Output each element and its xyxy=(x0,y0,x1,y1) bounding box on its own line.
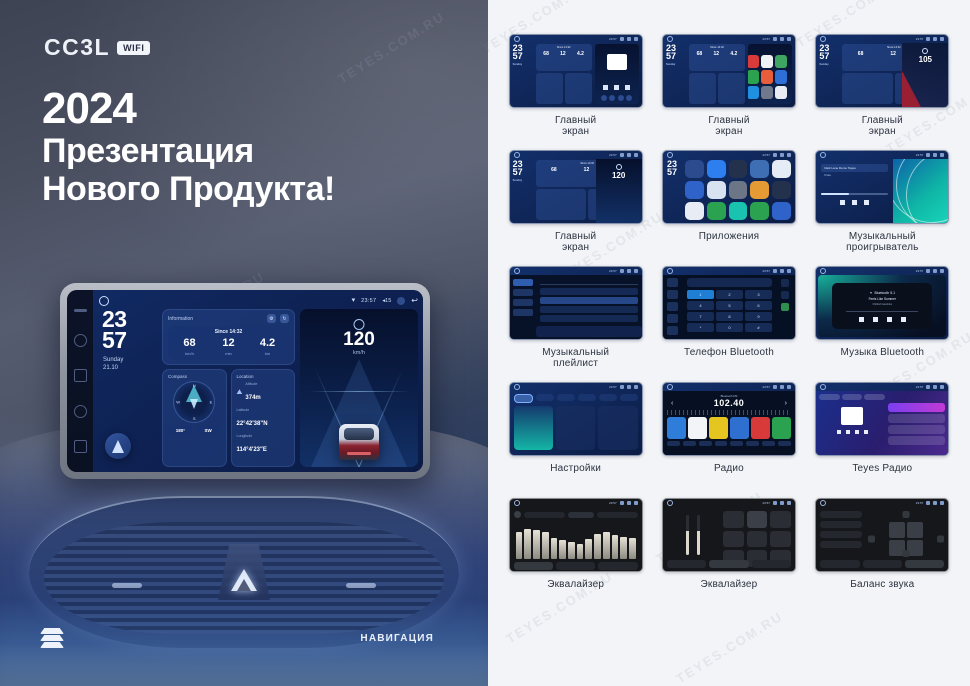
stop-icon xyxy=(614,85,619,90)
gallery-tile[interactable]: 23:57 2357Sunday Since 14:32 68124.2 120 xyxy=(504,150,647,263)
navigation-arrow-icon[interactable] xyxy=(105,433,131,459)
widgets-column: Information ⚙ ↻ Since 14:32 xyxy=(162,309,295,467)
key-6: 6 xyxy=(745,301,772,310)
clock-widget: 2357Sunday xyxy=(513,44,533,104)
settings-cards[interactable] xyxy=(514,406,638,450)
settings-screen xyxy=(510,391,642,455)
playlist-sidebar[interactable] xyxy=(510,275,536,339)
compass-west-label: W xyxy=(176,400,180,405)
gallery-tile[interactable]: 23:57 2357Sunday Since 14:32 68124.2 xyxy=(657,34,800,147)
gallery-tile[interactable]: 23:57 ⚭ Bluetooth 5.1 Feels Like Summer … xyxy=(811,266,954,379)
compass-dial: N E S W xyxy=(173,381,215,423)
tab-tone xyxy=(905,560,944,568)
location-widget[interactable]: Location ⛰ Altitude 374m xyxy=(231,369,296,467)
compass-widget xyxy=(536,73,563,104)
preset-knob-icon xyxy=(514,511,521,518)
volume-down-icon[interactable] xyxy=(74,405,87,418)
app-icon xyxy=(707,181,726,199)
speed-unit: km/h xyxy=(300,350,418,356)
volume-up-icon[interactable] xyxy=(74,334,87,347)
tab-eq xyxy=(514,562,553,570)
screenshot-thumbnail[interactable]: 23:57 xyxy=(815,498,949,572)
radio-frequency: 102.40 xyxy=(714,398,745,408)
hero-panel: TEYES.COM.RU TEYES.COM.RU TEYES.COM.RU xyxy=(0,0,488,686)
compass-widget xyxy=(536,189,587,220)
arrow-left-icon[interactable] xyxy=(868,536,875,543)
app-icon xyxy=(772,202,791,220)
media-widget xyxy=(595,44,639,104)
play-pause-icon xyxy=(873,317,878,322)
settings-gear-icon[interactable]: ⚙ xyxy=(267,314,276,323)
gallery-tile[interactable]: 23:57 Bluetooth FM ‹ 102.40 › xyxy=(657,382,800,495)
track-title: Dark Lane Demo Tapes xyxy=(821,164,888,172)
back-icon[interactable]: ↩ xyxy=(411,297,418,305)
caption-line-1: Главный xyxy=(555,231,596,242)
home-screen: ▾ 23:57 ◂15 ↩ 23 57 Sunday 21.10 xyxy=(93,290,423,472)
player-controls[interactable] xyxy=(819,430,885,434)
information-widget: Since 14:32 68124.2 xyxy=(689,44,745,71)
tab-factory xyxy=(578,394,596,401)
dialer-actions[interactable] xyxy=(776,275,795,339)
location-title: Location xyxy=(237,374,290,379)
app-icon xyxy=(707,160,726,178)
mini-status-bar: 23:57 xyxy=(510,267,642,275)
tile-caption: Эквалайзер xyxy=(701,580,758,591)
preset-button xyxy=(747,531,768,548)
compass-widget xyxy=(689,73,716,104)
caption-line-2: проигрыватель xyxy=(846,242,918,253)
headline-block: 2024 Презентация Нового Продукта! xyxy=(42,86,335,208)
watermark: TEYES.COM.RU xyxy=(673,609,785,686)
speed-value: 120 xyxy=(596,171,642,180)
location-widget xyxy=(718,73,745,104)
tab-bar[interactable] xyxy=(819,394,885,400)
latitude-label: Latitude xyxy=(237,408,290,412)
key-2: 2 xyxy=(716,290,743,299)
wifi-icon: ▾ xyxy=(352,297,356,304)
home-layout: 2357Sunday Since 14:32 68124.2 xyxy=(510,35,642,107)
headline-line-2: Нового Продукта! xyxy=(42,170,335,208)
balance-presets[interactable] xyxy=(820,511,862,567)
equalizer-tabs[interactable] xyxy=(820,560,944,568)
driving-view-widget: 105 xyxy=(902,43,948,107)
prev-station-icon[interactable]: ‹ xyxy=(671,400,673,407)
preset-buttons[interactable] xyxy=(723,511,791,567)
compass-readout: 180° SW xyxy=(168,426,221,435)
caption-line-1: Эквалайзер xyxy=(701,579,758,590)
clock-weekday: Sunday xyxy=(99,356,157,364)
trip-stat-unit: min xyxy=(209,351,248,356)
dialer: 123 456 789 *0# xyxy=(683,275,776,339)
clock-widget: 2357Sunday xyxy=(666,44,686,104)
key-hash: # xyxy=(745,323,772,332)
longitude-value: 114°4'23"E xyxy=(237,447,267,453)
gallery-tile[interactable]: 23:57 123 456 789 *0# xyxy=(657,266,800,379)
clock-date: 21.10 xyxy=(99,364,157,372)
clock-widget[interactable]: 23 57 Sunday 21.10 xyxy=(99,309,157,467)
mountain-icon: ⛰ xyxy=(237,389,243,397)
longitude-row: Longitude 114°4'23"E xyxy=(237,434,290,456)
compass-heading: 180° xyxy=(168,426,193,435)
trip-stat-unit: km/h xyxy=(170,351,209,356)
refresh-icon[interactable]: ↻ xyxy=(280,314,289,323)
bt-card: ⚭ Bluetooth 5.1 Feels Like Summer Childi… xyxy=(832,283,932,329)
key-9: 9 xyxy=(745,312,772,321)
speed-value: 105 xyxy=(902,55,948,64)
power-icon[interactable] xyxy=(74,309,87,312)
media-controls xyxy=(601,85,633,90)
station-list[interactable] xyxy=(888,394,945,452)
station-presets[interactable] xyxy=(667,417,791,439)
equalizer-screen xyxy=(510,507,642,571)
home-layout: 2357Sunday Since 14:32 68124.2 xyxy=(663,35,795,107)
speaker-fr xyxy=(907,522,923,538)
preset-6 xyxy=(772,417,791,439)
status-bar: ▾ 23:57 ◂15 ↩ xyxy=(99,294,418,307)
contacts-icon xyxy=(667,290,678,299)
settings-tabs[interactable] xyxy=(514,394,638,403)
volume-icon[interactable]: ◂15 xyxy=(382,298,391,304)
gallery-tile[interactable]: 23:57 2357Sunday Since 14:32 68124.2 105 xyxy=(811,34,954,147)
preset-1 xyxy=(667,417,686,439)
compass-widget[interactable]: Compass N E S W 180° xyxy=(162,369,227,467)
trip-stat: 68 km/h xyxy=(170,338,209,356)
dialpad-icon xyxy=(667,278,678,287)
preset-button xyxy=(747,511,768,528)
vent-slider-right xyxy=(346,583,376,588)
product-logo: CC3L WIFI xyxy=(44,34,150,61)
equalizer-bands[interactable] xyxy=(514,521,638,559)
tab-eq xyxy=(667,560,706,568)
equalizer-tabs[interactable] xyxy=(514,562,638,570)
preset-button xyxy=(723,511,744,528)
mini-status-bar: 23:57 xyxy=(816,383,948,391)
list-item[interactable] xyxy=(540,288,638,295)
tile-caption: Teyes Радио xyxy=(852,464,912,475)
list-item xyxy=(888,414,945,423)
screenshot-thumbnail[interactable]: 23:57 2357Sunday Since 14:32 68124.2 105 xyxy=(815,34,949,108)
progress-bar[interactable] xyxy=(821,193,888,195)
tile-caption: Баланс звука xyxy=(850,580,914,591)
gallery-tile[interactable]: 23:57 Эквалайзер xyxy=(504,498,647,611)
tab-tone xyxy=(752,560,791,568)
key-0: 0 xyxy=(716,323,743,332)
next-icon xyxy=(864,200,869,205)
trip-since-label: Since 14:32 xyxy=(170,329,287,335)
bluetooth-icon: ⚭ xyxy=(870,291,873,295)
backspace-icon xyxy=(781,291,789,299)
latitude-value: 22°42'38"N xyxy=(237,421,268,427)
favorite-icon xyxy=(864,430,868,434)
caption-line-2: экран xyxy=(562,126,589,137)
album-art xyxy=(841,407,863,425)
screenshot-thumbnail[interactable]: 23:57 2357Sunday Since 14:32 68124.2 xyxy=(509,34,643,108)
information-widget: Since 14:32 68124.2 xyxy=(536,44,592,71)
app-icon xyxy=(685,202,704,220)
tab-general xyxy=(599,394,617,401)
caption-line-1: Главный xyxy=(708,115,749,126)
tile-caption: Музыка Bluetooth xyxy=(841,348,925,359)
keypad[interactable]: 123 456 789 *0# xyxy=(687,290,772,332)
gallery-tile[interactable]: 23:57 Настройки xyxy=(504,382,647,495)
menu-icon[interactable] xyxy=(74,369,87,382)
music-playlist xyxy=(510,275,642,339)
apps-launcher: 2357 xyxy=(667,160,791,220)
compass-widget xyxy=(842,73,893,104)
star-icon xyxy=(781,279,789,287)
key-5: 5 xyxy=(716,301,743,310)
head-unit-screen: ▾ 23:57 ◂15 ↩ 23 57 Sunday 21.10 xyxy=(67,290,423,472)
mini-status-bar: 23:57 xyxy=(510,499,642,507)
altitude-label: Altitude xyxy=(245,382,260,386)
mini-status-bar: 23:57 xyxy=(510,151,642,159)
gallery-tile[interactable]: 23:57 Музыкальный плейлист xyxy=(504,266,647,379)
player-controls[interactable] xyxy=(859,317,906,322)
bt-version-row: ⚭ Bluetooth 5.1 xyxy=(870,291,896,295)
screenshot-thumbnail[interactable]: 23:57 2357Sunday Since 14:32 68124.2 xyxy=(662,34,796,108)
side-button-rail[interactable] xyxy=(67,290,93,472)
stop-icon xyxy=(846,430,850,434)
playlist-header xyxy=(540,279,638,285)
mini-status-bar: 23:57 xyxy=(816,35,948,43)
list-item[interactable] xyxy=(540,297,638,304)
app-icon xyxy=(685,181,704,199)
driving-view-widget[interactable]: 120 km/h xyxy=(300,309,418,467)
tile-caption: Телефон Bluetooth xyxy=(684,348,774,359)
trip-stat: 12 min xyxy=(209,338,248,356)
mini-status-bar: 23:57 xyxy=(510,35,642,43)
information-title: Information xyxy=(168,316,193,322)
caption-line-1: Teyes Радио xyxy=(852,463,912,474)
information-widget[interactable]: Information ⚙ ↻ Since 14:32 xyxy=(162,309,295,365)
latitude-row: Latitude 22°42'38"N xyxy=(237,408,290,430)
call-log-icon xyxy=(667,314,678,323)
list-item[interactable] xyxy=(540,315,638,322)
app-icon xyxy=(729,160,748,178)
gallery-tile[interactable]: 23:57 Эквалайзер xyxy=(657,498,800,611)
mini-status-bar: 23:57 xyxy=(816,151,948,159)
tile-caption: Приложения xyxy=(699,232,760,243)
bluetooth-music: ⚭ Bluetooth 5.1 Feels Like Summer Childi… xyxy=(818,275,946,337)
mic-icon[interactable] xyxy=(74,440,87,453)
caption-line-1: Музыкальный xyxy=(542,347,609,358)
app-grid xyxy=(685,160,791,220)
mini-status-bar: 23:57 xyxy=(663,499,795,507)
bt-version: Bluetooth 5.1 xyxy=(874,291,895,295)
key-7: 7 xyxy=(687,312,714,321)
caption-line-1: Эквалайзер xyxy=(547,579,604,590)
preset-3 xyxy=(709,417,728,439)
gallery-tile[interactable]: 23:57 2357 xyxy=(657,150,800,263)
mini-status-bar: 23:57 xyxy=(663,151,795,159)
list-item[interactable] xyxy=(540,306,638,313)
frequency-scale[interactable] xyxy=(667,410,791,415)
album-art xyxy=(607,54,627,70)
altitude-row: ⛰ Altitude 374m xyxy=(237,382,290,404)
mini-status-bar: 23:57 xyxy=(816,499,948,507)
hud-icon xyxy=(922,48,928,54)
screenshot-thumbnail[interactable]: 23:57 xyxy=(662,498,796,572)
hazard-triangle-icon xyxy=(231,569,257,591)
screenshot-thumbnail[interactable]: 23:57 xyxy=(509,382,643,456)
tile-caption: Радио xyxy=(714,464,744,475)
wifi-badge: WIFI xyxy=(117,41,150,55)
clock-widget: 2357Sunday xyxy=(819,44,839,104)
app-icon xyxy=(772,181,791,199)
information-actions: ⚙ ↻ xyxy=(267,314,289,323)
app-icon xyxy=(685,160,704,178)
progress-bar[interactable] xyxy=(846,311,918,312)
home-body: 23 57 Sunday 21.10 Information xyxy=(99,307,418,467)
app-icon xyxy=(750,181,769,199)
screenshot-thumbnail[interactable]: 23:57 Bluetooth FM ‹ 102.40 › xyxy=(662,382,796,456)
hud-icon xyxy=(616,164,622,170)
layers-icon xyxy=(40,628,64,648)
gallery-tile[interactable]: 23:57 Teyes Радио xyxy=(811,382,954,495)
arrow-up-icon[interactable] xyxy=(903,511,910,518)
key-star: * xyxy=(687,323,714,332)
screenshot-thumbnail[interactable]: 23:57 2357 xyxy=(662,150,796,224)
screenshot-gallery: TEYES.COM.RU TEYES.COM.RU TEYES.COM.RU T… xyxy=(488,0,970,686)
mini-player-bar[interactable] xyxy=(536,326,642,337)
music-player: Dark Lane Demo Tapes Drake xyxy=(816,159,948,223)
caption-line-1: Музыкальный xyxy=(849,231,916,242)
mini-status-bar: 23:57 xyxy=(663,383,795,391)
status-clock: 23:57 xyxy=(361,298,376,304)
screenshot-thumbnail[interactable]: 23:57 ⚭ Bluetooth 5.1 Feels Like Summer … xyxy=(815,266,949,340)
next-station-icon[interactable]: › xyxy=(785,400,787,407)
caption-line-1: Телефон Bluetooth xyxy=(684,347,774,358)
wifi-card xyxy=(514,406,553,450)
tab-wlan xyxy=(514,394,534,403)
tab-sound xyxy=(536,394,554,401)
presentation-slide: TEYES.COM.RU TEYES.COM.RU TEYES.COM.RU xyxy=(0,0,970,686)
phone-sidebar[interactable] xyxy=(663,275,683,339)
screenshot-thumbnail[interactable]: 23:57 xyxy=(509,266,643,340)
speaker-fl xyxy=(889,522,905,538)
player-pane xyxy=(819,394,885,452)
caption-line-2: экран xyxy=(562,242,589,253)
list-item xyxy=(888,403,945,412)
clock-minutes: 57 xyxy=(99,330,157,351)
driving-view-widget: 120 xyxy=(596,159,642,223)
lower-widgets: Compass N E S W 180° xyxy=(162,369,295,467)
equalizer-header[interactable] xyxy=(514,511,638,518)
visualizer xyxy=(893,159,948,223)
equalizer-tabs[interactable] xyxy=(667,560,791,568)
caption-line-1: Главный xyxy=(862,115,903,126)
mini-status-bar: 23:57 xyxy=(663,267,795,275)
screenshot-thumbnail[interactable]: 23:57 2357Sunday Since 14:32 68124.2 120 xyxy=(509,150,643,224)
screenshot-thumbnail[interactable]: 23:57 xyxy=(509,498,643,572)
track-artist: Drake xyxy=(821,174,888,177)
bluetooth-phone: 123 456 789 *0# xyxy=(663,275,795,339)
head-unit-bezel: ▾ 23:57 ◂15 ↩ 23 57 Sunday 21.10 xyxy=(60,283,430,479)
tile-caption: Музыкальный плейлист xyxy=(542,348,609,370)
caption-line-2: экран xyxy=(869,126,896,137)
lower-widgets xyxy=(689,73,745,104)
trip-stat-value: 68 xyxy=(170,338,209,349)
brand-name: CC3L xyxy=(44,34,110,61)
screenshot-thumbnail[interactable]: 23:57 Dark Lane Demo Tapes Drake xyxy=(815,150,949,224)
key-8: 8 xyxy=(716,312,743,321)
gallery-tile[interactable]: 23:57 2357Sunday Since 14:32 68124.2 xyxy=(504,34,647,147)
app-icon xyxy=(772,160,791,178)
list-item xyxy=(888,436,945,445)
status-right-cluster: ▾ 23:57 ◂15 ↩ xyxy=(352,297,418,305)
watermark: TEYES.COM.RU xyxy=(335,9,447,87)
prev-icon xyxy=(837,430,841,434)
app-icon xyxy=(729,181,748,199)
radio-screen: Bluetooth FM ‹ 102.40 › xyxy=(663,391,795,455)
trip-stat-unit: km xyxy=(248,351,287,356)
number-field[interactable] xyxy=(687,278,772,287)
compass-direction: SW xyxy=(196,426,221,435)
screenshot-thumbnail[interactable]: 23:57 xyxy=(815,382,949,456)
arrow-right-icon[interactable] xyxy=(937,536,944,543)
gallery-tile[interactable]: 23:57 Dark Lane Demo Tapes Drake xyxy=(811,150,954,263)
compass-north-label: N xyxy=(193,383,196,388)
assistant-icon[interactable] xyxy=(397,297,405,305)
tone-sliders[interactable] xyxy=(667,511,719,567)
tab-system xyxy=(620,394,638,401)
vent-slider-left xyxy=(112,583,142,588)
screenshot-thumbnail[interactable]: 23:57 123 456 789 *0# xyxy=(662,266,796,340)
next-icon xyxy=(625,85,630,90)
radio-toolbar[interactable] xyxy=(667,441,791,446)
search-icon xyxy=(667,302,678,311)
mini-status-bar: 23:57 xyxy=(816,267,948,275)
compass-east-label: E xyxy=(210,400,213,405)
gallery-tile[interactable]: 23:57 Баланс звука xyxy=(811,498,954,611)
prev-icon xyxy=(859,317,864,322)
track-artist: Childish Gambino xyxy=(872,303,892,306)
arrow-down-icon[interactable] xyxy=(903,550,910,557)
car-graphic xyxy=(339,424,379,460)
clock-widget: 2357Sunday xyxy=(513,160,533,220)
pause-icon xyxy=(852,200,857,205)
compass-title: Compass xyxy=(168,374,221,379)
clock-widget: 2357 xyxy=(667,160,682,220)
balance-pad[interactable] xyxy=(868,511,944,567)
tab-display xyxy=(557,394,575,401)
caption-line-2: экран xyxy=(715,126,742,137)
next-icon xyxy=(855,430,859,434)
key-3: 3 xyxy=(745,290,772,299)
lane-wedge-graphic xyxy=(902,63,924,107)
app-icon xyxy=(750,160,769,178)
altitude-value: 374m xyxy=(245,395,260,401)
widgets-column: Since 14:32 68124.2 xyxy=(689,44,745,104)
tile-caption: Музыкальный проигрыватель xyxy=(846,232,918,254)
track-title: Feels Like Summer xyxy=(869,297,896,301)
tab-bal xyxy=(709,560,748,568)
player-controls[interactable] xyxy=(821,200,888,205)
home-icon[interactable] xyxy=(99,296,109,306)
app-icon xyxy=(750,202,769,220)
app-grid xyxy=(748,53,789,101)
headline-year: 2024 xyxy=(42,86,335,132)
tile-caption: Главный экран xyxy=(555,232,596,254)
tile-caption: Эквалайзер xyxy=(547,580,604,591)
settings-gear-icon xyxy=(667,326,678,335)
tab-tone xyxy=(598,562,637,570)
radio-tuner: ‹ 102.40 › xyxy=(667,398,791,408)
caption-line-2: плейлист xyxy=(553,358,598,369)
trip-stat-value: 12 xyxy=(209,338,248,349)
more-card xyxy=(598,406,637,450)
preset-4 xyxy=(730,417,749,439)
